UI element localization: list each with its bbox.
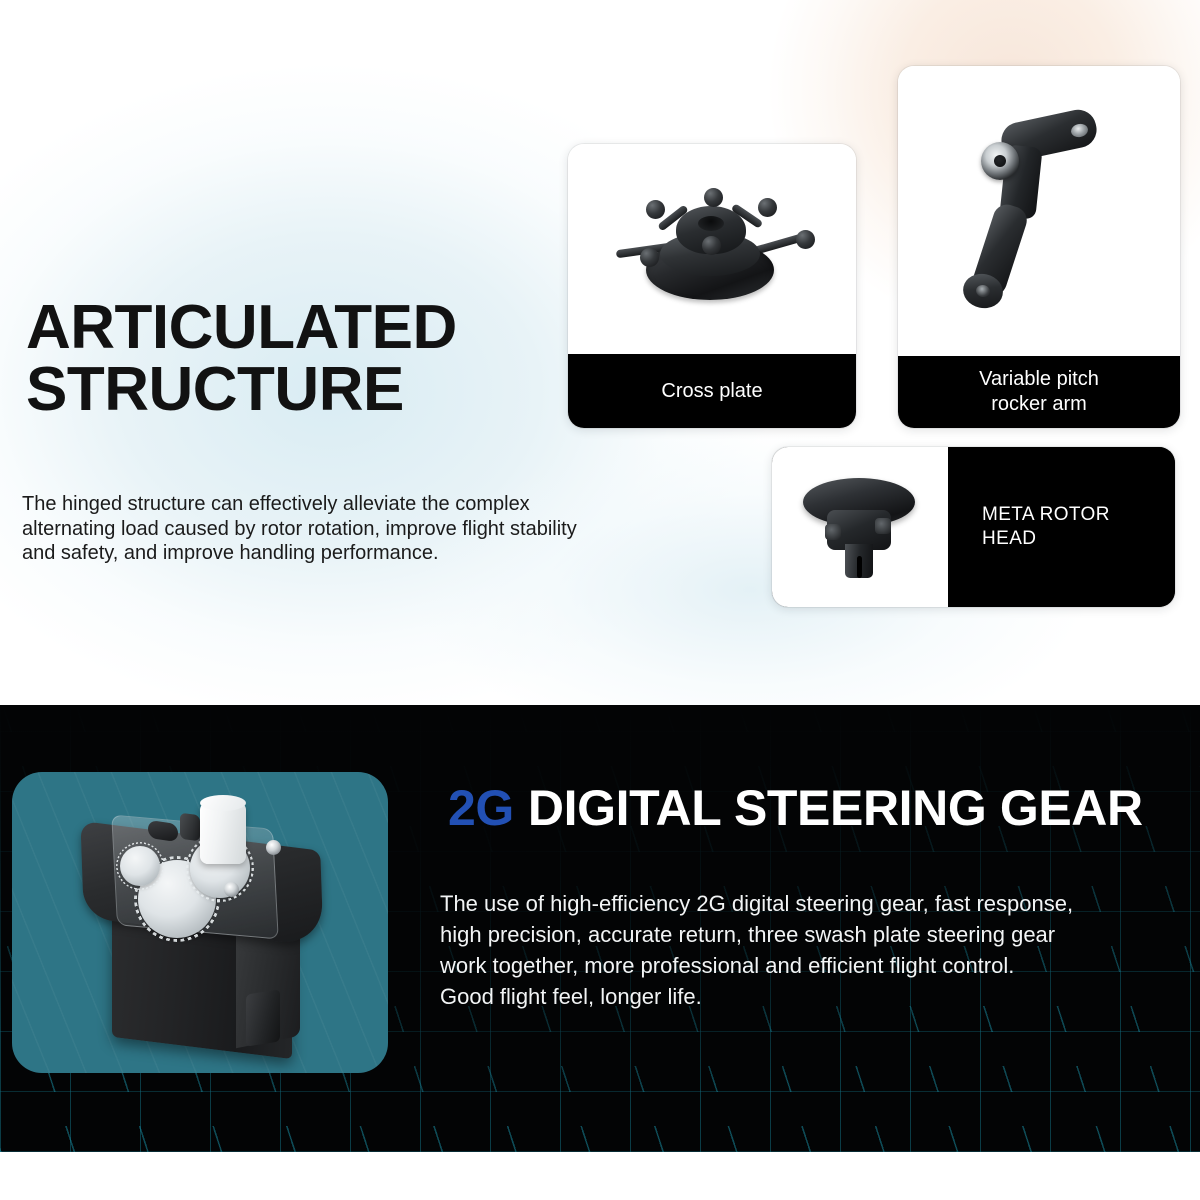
cross-plate-label: Cross plate <box>568 354 856 428</box>
product-card-variable-pitch-rocker-arm[interactable]: Variable pitch rocker arm <box>898 66 1180 428</box>
steering-gear-heading-text: DIGITAL STEERING GEAR <box>528 780 1143 836</box>
servo-screw-b <box>224 882 239 897</box>
servo-screw-a <box>266 840 281 855</box>
product-card-cross-plate[interactable]: Cross plate <box>568 144 856 428</box>
meta-rotor-head-label: META ROTOR HEAD <box>948 447 1175 607</box>
cross-plate-ball-2 <box>758 198 777 217</box>
servo-output-spline <box>200 802 246 864</box>
digital-steering-gear-section: 2GDIGITAL STEERING GEAR The use of high-… <box>0 705 1200 1152</box>
steering-gear-body-copy: The use of high-efficiency 2G digital st… <box>440 888 1180 1012</box>
cross-plate-ball-6 <box>702 236 721 255</box>
cross-plate-photo <box>568 144 856 354</box>
product-card-meta-rotor-head[interactable]: META ROTOR HEAD <box>772 447 1175 607</box>
variable-pitch-rocker-arm-photo <box>898 66 1180 356</box>
cross-plate-ball-5 <box>796 230 815 249</box>
variable-pitch-rocker-arm-label: Variable pitch rocker arm <box>898 356 1180 428</box>
cross-plate-ball-4 <box>640 248 659 267</box>
rotor-head-bolt-left <box>825 524 841 540</box>
steering-gear-badge: 2G <box>448 780 514 836</box>
rotor-head-bolt-right <box>875 518 891 534</box>
section-headline: ARTICULATED STRUCTURE <box>26 297 566 421</box>
product-infographic-page: ARTICULATED STRUCTURE The hinged structu… <box>0 0 1200 1200</box>
servo-photo-panel <box>12 772 388 1073</box>
section-body-copy: The hinged structure can effectively all… <box>22 492 682 566</box>
bottom-white-strip <box>0 1152 1200 1200</box>
articulated-structure-section: ARTICULATED STRUCTURE The hinged structu… <box>0 0 1200 705</box>
servo-connector-tab <box>246 989 280 1046</box>
cross-plate-bore <box>698 216 724 231</box>
rotor-head-shaft-slot <box>857 556 862 578</box>
rocker-arm-bearing <box>981 142 1019 180</box>
cross-plate-ball-3 <box>704 188 723 207</box>
servo-gear-small <box>120 846 160 886</box>
cross-plate-ball-1 <box>646 200 665 219</box>
meta-rotor-head-photo <box>772 447 948 607</box>
digital-steering-gear-servo-photo <box>54 796 354 1056</box>
servo-post <box>180 813 200 842</box>
steering-gear-heading: 2GDIGITAL STEERING GEAR <box>448 781 1143 835</box>
